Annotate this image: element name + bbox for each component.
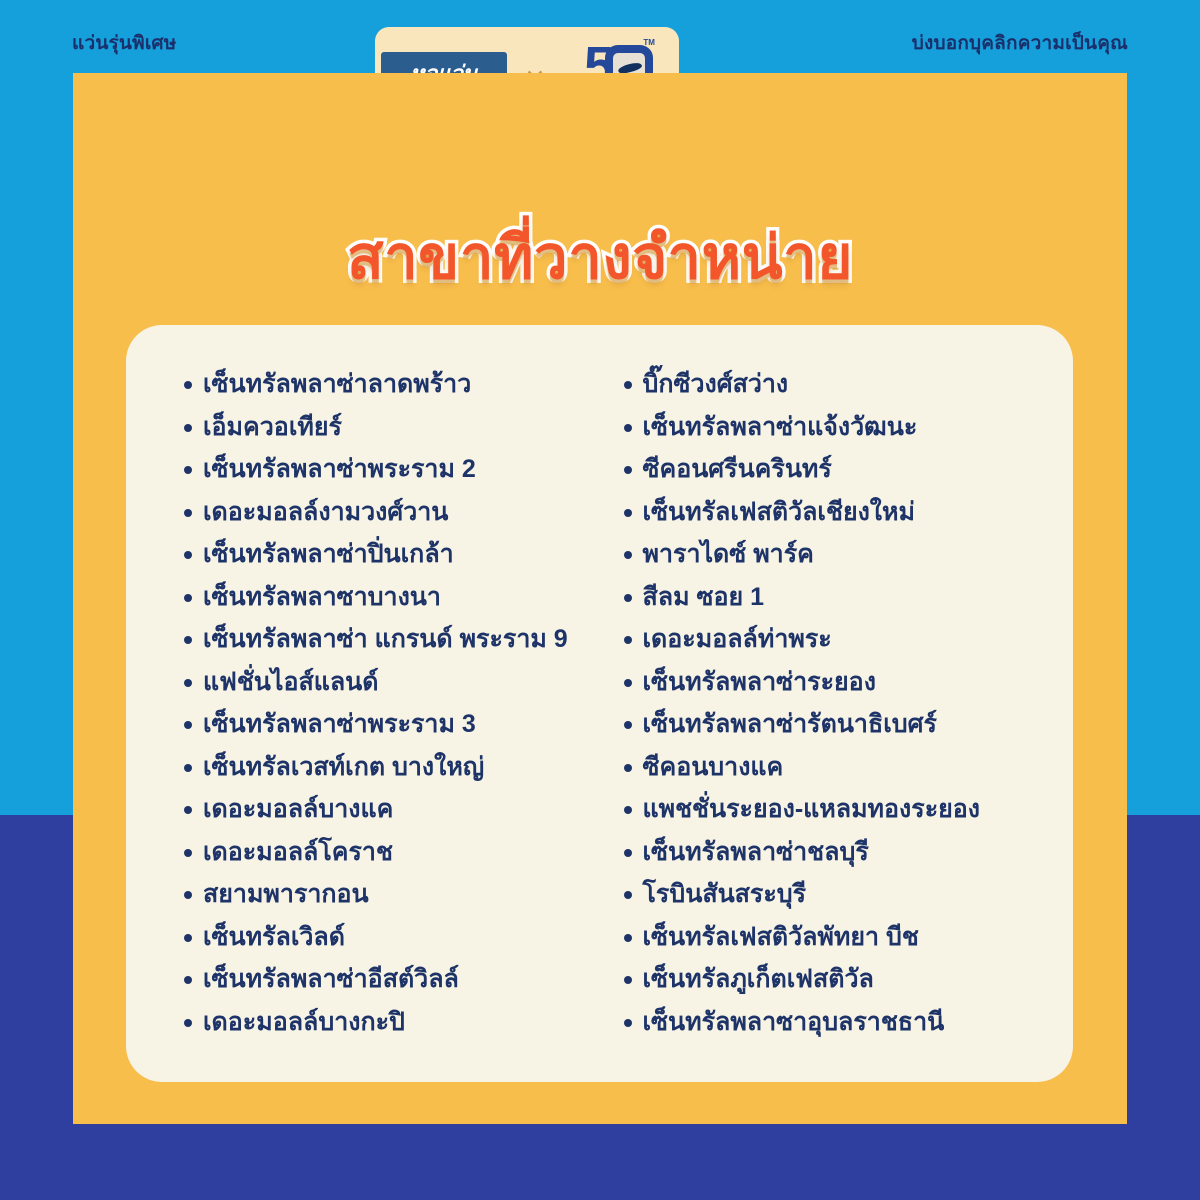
list-item: เซ็นทรัลพลาซ่าพระราม 3 bbox=[184, 703, 604, 746]
list-item: แฟชั่นไอส์แลนด์ bbox=[184, 661, 604, 704]
branch-name: เซ็นทรัลภูเก็ตเฟสติวัล bbox=[643, 958, 874, 1001]
branch-name: แพชชั่นระยอง-แหลมทองระยอง bbox=[643, 788, 981, 831]
list-item: เดอะมอลล์โคราช bbox=[184, 831, 604, 874]
poster-canvas: แว่นรุ่นพิเศษ บ่งบอกบุคลิกความเป็นคุณ หอ… bbox=[0, 0, 1200, 1200]
list-item: บิ๊กซีวงศ์สว่าง bbox=[624, 363, 1044, 406]
bullet-icon bbox=[624, 466, 632, 474]
list-item: เอ็มควอเทียร์ bbox=[184, 406, 604, 449]
list-item: เซ็นทรัลพลาซ่ารัตนาธิเบศร์ bbox=[624, 703, 1044, 746]
list-item: เซ็นทรัลพลาซาบางนา bbox=[184, 576, 604, 619]
branch-name: เซ็นทรัลพลาซ่าลาดพร้าว bbox=[203, 363, 471, 406]
bullet-icon bbox=[624, 551, 632, 559]
branch-name: เซ็นทรัลพลาซ่ารัตนาธิเบศร์ bbox=[643, 703, 937, 746]
branch-name: เดอะมอลล์โคราช bbox=[203, 831, 393, 874]
bullet-icon bbox=[624, 806, 632, 814]
list-item: เซ็นทรัลเฟสติวัลเชียงใหม่ bbox=[624, 491, 1044, 534]
list-item: ซีคอนศรีนครินทร์ bbox=[624, 448, 1044, 491]
branch-name: เดอะมอลล์ท่าพระ bbox=[643, 618, 832, 661]
list-item: เซ็นทรัลภูเก็ตเฟสติวัล bbox=[624, 958, 1044, 1001]
bullet-icon bbox=[184, 934, 192, 942]
header-right-text: บ่งบอกบุคลิกความเป็นคุณ bbox=[912, 28, 1128, 58]
list-item: เซ็นทรัลพลาซ่าอีสต์วิลล์ bbox=[184, 958, 604, 1001]
branch-name: เซ็นทรัลพลาซ่าระยอง bbox=[643, 661, 876, 704]
branch-list-card: เซ็นทรัลพลาซ่าลาดพร้าวเอ็มควอเทียร์เซ็นท… bbox=[126, 325, 1073, 1082]
bullet-icon bbox=[184, 891, 192, 899]
list-item: สยามพารากอน bbox=[184, 873, 604, 916]
header-strip: แว่นรุ่นพิเศษ บ่งบอกบุคลิกความเป็นคุณ bbox=[0, 26, 1200, 60]
bullet-icon bbox=[184, 636, 192, 644]
list-item: เดอะมอลล์บางกะปิ bbox=[184, 1001, 604, 1044]
list-item: เซ็นทรัลพลาซ่าระยอง bbox=[624, 661, 1044, 704]
bullet-icon bbox=[184, 594, 192, 602]
list-item: เซ็นทรัลเวสท์เกต บางใหญ่ bbox=[184, 746, 604, 789]
list-item: เดอะมอลล์บางแค bbox=[184, 788, 604, 831]
bullet-icon bbox=[184, 976, 192, 984]
list-item: เซ็นทรัลพลาซ่า แกรนด์ พระราม 9 bbox=[184, 618, 604, 661]
bullet-icon bbox=[624, 509, 632, 517]
branch-list-right-column: บิ๊กซีวงศ์สว่างเซ็นทรัลพลาซ่าแจ้งวัฒนะซี… bbox=[604, 363, 1044, 1052]
branch-name: เซ็นทรัลเฟสติวัลพัทยา บีช bbox=[643, 916, 919, 959]
list-item: แพชชั่นระยอง-แหลมทองระยอง bbox=[624, 788, 1044, 831]
bullet-icon bbox=[624, 381, 632, 389]
bullet-icon bbox=[624, 721, 632, 729]
branch-name: เซ็นทรัลพลาซ่าแจ้งวัฒนะ bbox=[643, 406, 918, 449]
list-item: สีลม ซอย 1 bbox=[624, 576, 1044, 619]
bullet-icon bbox=[624, 679, 632, 687]
page-title: สาขาที่วางจำหน่าย bbox=[0, 222, 1200, 294]
branch-name: ซีคอนศรีนครินทร์ bbox=[643, 448, 832, 491]
bullet-icon bbox=[624, 636, 632, 644]
bullet-icon bbox=[184, 721, 192, 729]
branch-name: เซ็นทรัลเวิลด์ bbox=[203, 916, 345, 959]
bullet-icon bbox=[624, 764, 632, 772]
branch-name: เซ็นทรัลพลาซาบางนา bbox=[203, 576, 441, 619]
branch-name: เซ็นทรัลพลาซาอุบลราชธานี bbox=[643, 1001, 945, 1044]
bullet-icon bbox=[624, 1019, 632, 1027]
list-item: พาราไดซ์ พาร์ค bbox=[624, 533, 1044, 576]
list-item: เซ็นทรัลพลาซาอุบลราชธานี bbox=[624, 1001, 1044, 1044]
branch-name: แฟชั่นไอส์แลนด์ bbox=[203, 661, 378, 704]
list-item: เซ็นทรัลพลาซ่าพระราม 2 bbox=[184, 448, 604, 491]
bullet-icon bbox=[184, 509, 192, 517]
branch-name: เซ็นทรัลพลาซ่า แกรนด์ พระราม 9 bbox=[203, 618, 568, 661]
branch-name: พาราไดซ์ พาร์ค bbox=[643, 533, 814, 576]
branch-name: เซ็นทรัลพลาซ่าอีสต์วิลล์ bbox=[203, 958, 459, 1001]
branch-name: เดอะมอลล์งามวงศ์วาน bbox=[203, 491, 448, 534]
list-item: ซีคอนบางแค bbox=[624, 746, 1044, 789]
list-item: เดอะมอลล์ท่าพระ bbox=[624, 618, 1044, 661]
branch-name: เซ็นทรัลพลาซ่าพระราม 2 bbox=[203, 448, 476, 491]
list-item: เซ็นทรัลพลาซ่าแจ้งวัฒนะ bbox=[624, 406, 1044, 449]
bullet-icon bbox=[184, 764, 192, 772]
branch-name: เซ็นทรัลพลาซ่าชลบุรี bbox=[643, 831, 869, 874]
branch-name: เซ็นทรัลเฟสติวัลเชียงใหม่ bbox=[643, 491, 915, 534]
branch-name: เซ็นทรัลพลาซ่าพระราม 3 bbox=[203, 703, 476, 746]
branch-name: สีลม ซอย 1 bbox=[643, 576, 764, 619]
bullet-icon bbox=[184, 551, 192, 559]
branch-name: โรบินสันสระบุรี bbox=[643, 873, 807, 916]
branch-name: สยามพารากอน bbox=[203, 873, 369, 916]
bullet-icon bbox=[184, 849, 192, 857]
bullet-icon bbox=[184, 381, 192, 389]
bullet-icon bbox=[624, 424, 632, 432]
bullet-icon bbox=[624, 934, 632, 942]
bullet-icon bbox=[624, 849, 632, 857]
bullet-icon bbox=[624, 891, 632, 899]
bullet-icon bbox=[184, 424, 192, 432]
list-item: เซ็นทรัลเวิลด์ bbox=[184, 916, 604, 959]
list-item: เดอะมอลล์งามวงศ์วาน bbox=[184, 491, 604, 534]
bullet-icon bbox=[624, 976, 632, 984]
header-left-text: แว่นรุ่นพิเศษ bbox=[72, 28, 177, 58]
branch-name: เดอะมอลล์บางกะปิ bbox=[203, 1001, 405, 1044]
branch-name: บิ๊กซีวงศ์สว่าง bbox=[643, 363, 789, 406]
branch-name: เอ็มควอเทียร์ bbox=[203, 406, 342, 449]
branch-list-left-column: เซ็นทรัลพลาซ่าลาดพร้าวเอ็มควอเทียร์เซ็นท… bbox=[156, 363, 604, 1052]
bullet-icon bbox=[184, 679, 192, 687]
bullet-icon bbox=[624, 594, 632, 602]
branch-name: เดอะมอลล์บางแค bbox=[203, 788, 393, 831]
list-item: เซ็นทรัลพลาซ่าลาดพร้าว bbox=[184, 363, 604, 406]
bullet-icon bbox=[184, 806, 192, 814]
bullet-icon bbox=[184, 1019, 192, 1027]
list-item: เซ็นทรัลเฟสติวัลพัทยา บีช bbox=[624, 916, 1044, 959]
branch-name: เซ็นทรัลพลาซ่าปิ่นเกล้า bbox=[203, 533, 454, 576]
list-item: เซ็นทรัลพลาซ่าชลบุรี bbox=[624, 831, 1044, 874]
list-item: โรบินสันสระบุรี bbox=[624, 873, 1044, 916]
bullet-icon bbox=[184, 466, 192, 474]
branch-name: ซีคอนบางแค bbox=[643, 746, 784, 789]
list-item: เซ็นทรัลพลาซ่าปิ่นเกล้า bbox=[184, 533, 604, 576]
branch-name: เซ็นทรัลเวสท์เกต บางใหญ่ bbox=[203, 746, 484, 789]
